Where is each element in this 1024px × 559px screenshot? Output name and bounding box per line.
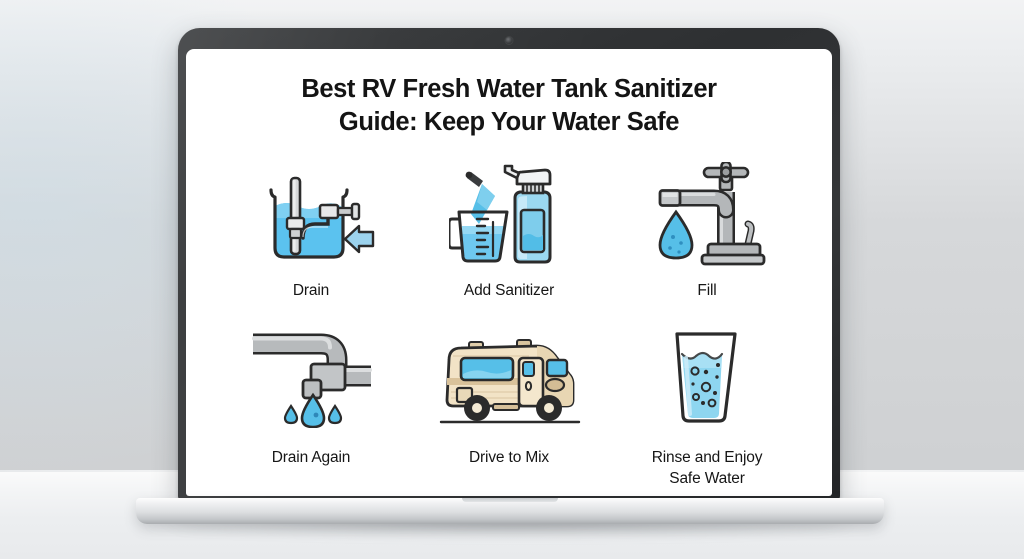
glass-of-water-icon: [663, 319, 751, 437]
laptop-lid: Best RV Fresh Water Tank Sanitizer Guide…: [178, 28, 840, 502]
step-card-drive-to-mix: Drive to Mix: [410, 319, 608, 488]
step-card-drain: Drain: [212, 158, 410, 301]
step-label-text: Drain Again: [272, 449, 350, 466]
title-line-1: Best RV Fresh Water Tank Sanitizer: [301, 75, 716, 103]
step-card-rinse-and-enjoy: Rinse and Enjoy Safe Water: [608, 319, 806, 488]
scene: Best RV Fresh Water Tank Sanitizer Guide…: [0, 0, 1024, 559]
infographic: Best RV Fresh Water Tank Sanitizer Guide…: [186, 49, 832, 496]
step-label: Drain Again: [272, 448, 350, 468]
step-label-text: Drain: [293, 282, 329, 299]
page-title: Best RV Fresh Water Tank Sanitizer Guide…: [301, 73, 716, 138]
steps-grid: Drain: [212, 158, 806, 488]
step-label: Rinse and Enjoy Safe Water: [652, 448, 763, 488]
camera-dot-icon: [506, 37, 513, 44]
step-label-text: Add Sanitizer: [464, 282, 554, 299]
tank-drain-valve-icon: [247, 158, 375, 270]
step-label-text-line2: Safe Water: [652, 469, 763, 489]
laptop-base-notch: [462, 498, 558, 502]
step-card-drain-again: Drain Again: [212, 319, 410, 488]
step-label: Add Sanitizer: [464, 281, 554, 301]
step-card-add-sanitizer: Add Sanitizer: [410, 158, 608, 301]
spray-bottle-measuring-cup-icon: [449, 158, 569, 270]
laptop-screen: Best RV Fresh Water Tank Sanitizer Guide…: [186, 49, 832, 496]
step-label: Drive to Mix: [469, 448, 549, 468]
rv-camper-icon: [433, 319, 585, 437]
title-line-2: Guide: Keep Your Water Safe: [301, 106, 716, 139]
laptop-mockup: Best RV Fresh Water Tank Sanitizer Guide…: [0, 0, 1024, 559]
laptop-base: [136, 498, 884, 524]
step-label: Drain: [293, 281, 329, 301]
step-label-text: Fill: [697, 282, 716, 299]
step-label-text: Rinse and Enjoy: [652, 449, 763, 466]
step-card-fill: Fill: [608, 158, 806, 301]
pipe-dripping-water-icon: [247, 319, 375, 437]
faucet-water-drop-icon: [648, 158, 766, 270]
step-label-text: Drive to Mix: [469, 449, 549, 466]
step-label: Fill: [697, 281, 716, 301]
